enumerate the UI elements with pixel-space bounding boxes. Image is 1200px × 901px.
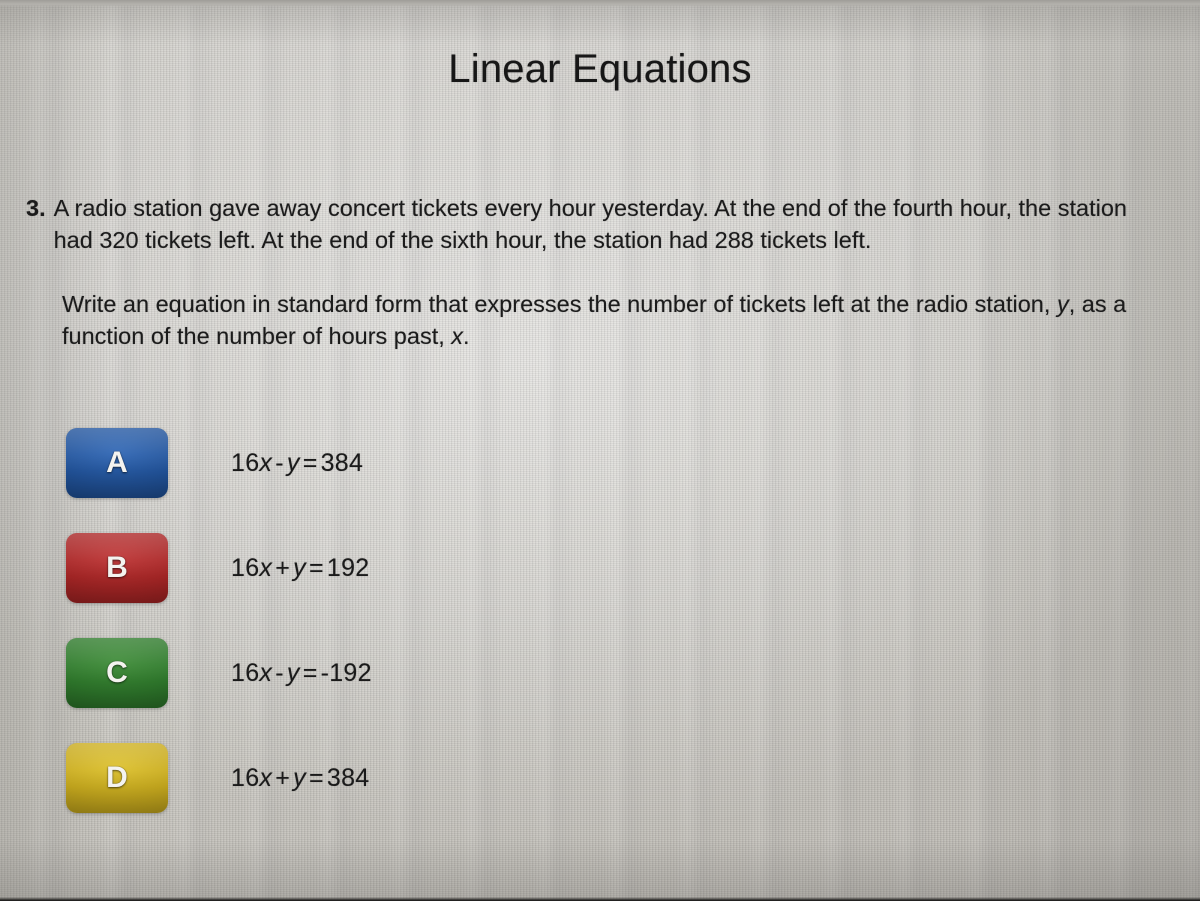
choice-d-var-y: y bbox=[293, 764, 306, 792]
choice-d-coefficient: 16 bbox=[231, 764, 259, 792]
choice-b-constant: 192 bbox=[327, 554, 370, 582]
choice-d-operator: + bbox=[272, 764, 293, 792]
choice-a-constant: 384 bbox=[321, 449, 364, 477]
choice-c-var-x: x bbox=[259, 659, 272, 687]
choice-equation-d: 16x+y=384 bbox=[231, 766, 369, 791]
choice-c-operator: - bbox=[272, 659, 287, 687]
choice-a-equals: = bbox=[300, 449, 321, 477]
slide-content: Linear Equations 3. A radio station gave… bbox=[0, 0, 1200, 901]
choice-b-operator: + bbox=[272, 554, 293, 582]
choice-d-equals: = bbox=[306, 764, 327, 792]
choice-button-b[interactable]: B bbox=[66, 533, 168, 603]
choice-button-d[interactable]: D bbox=[66, 743, 168, 813]
choice-letter-b: B bbox=[106, 551, 128, 585]
choice-a-operator: - bbox=[272, 449, 287, 477]
choice-c-constant: -192 bbox=[321, 659, 372, 687]
prompt-variable-y: y bbox=[1057, 291, 1069, 317]
choice-c-equals: = bbox=[300, 659, 321, 687]
prompt-variable-x: x bbox=[451, 323, 463, 349]
page-title: Linear Equations bbox=[0, 47, 1200, 92]
choice-a-coefficient: 16 bbox=[231, 449, 259, 477]
question-prompt: Write an equation in standard form that … bbox=[62, 288, 1172, 352]
projected-slide-screen: Linear Equations 3. A radio station gave… bbox=[0, 0, 1200, 901]
choice-equation-b: 16x+y=192 bbox=[231, 556, 369, 581]
choice-letter-d: D bbox=[106, 761, 128, 795]
question-body-text: A radio station gave away concert ticket… bbox=[54, 192, 1162, 256]
answer-choice-d[interactable]: D 16x+y=384 bbox=[66, 743, 372, 813]
prompt-segment-1: Write an equation in standard form that … bbox=[62, 291, 1057, 317]
choice-button-c[interactable]: C bbox=[66, 638, 168, 708]
choice-equation-a: 16x-y=384 bbox=[231, 451, 363, 476]
choice-letter-c: C bbox=[106, 656, 128, 690]
answer-choice-list: A 16x-y=384 B 16x+y=192 C 16x- bbox=[66, 428, 372, 813]
choice-equation-c: 16x-y=-192 bbox=[231, 661, 372, 686]
question-paragraph: 3. A radio station gave away concert tic… bbox=[26, 192, 1176, 256]
answer-choice-a[interactable]: A 16x-y=384 bbox=[66, 428, 372, 498]
choice-b-var-x: x bbox=[259, 554, 272, 582]
answer-choice-b[interactable]: B 16x+y=192 bbox=[66, 533, 372, 603]
choice-letter-a: A bbox=[106, 446, 128, 480]
choice-d-var-x: x bbox=[259, 764, 272, 792]
choice-b-var-y: y bbox=[293, 554, 306, 582]
answer-choice-c[interactable]: C 16x-y=-192 bbox=[66, 638, 372, 708]
prompt-segment-3: . bbox=[463, 323, 470, 349]
choice-b-equals: = bbox=[306, 554, 327, 582]
choice-a-var-y: y bbox=[287, 449, 300, 477]
choice-b-coefficient: 16 bbox=[231, 554, 259, 582]
choice-a-var-x: x bbox=[259, 449, 272, 477]
question-block: 3. A radio station gave away concert tic… bbox=[26, 192, 1176, 352]
choice-c-coefficient: 16 bbox=[231, 659, 259, 687]
choice-d-constant: 384 bbox=[327, 764, 370, 792]
choice-c-var-y: y bbox=[287, 659, 300, 687]
question-number: 3. bbox=[26, 192, 46, 224]
choice-button-a[interactable]: A bbox=[66, 428, 168, 498]
